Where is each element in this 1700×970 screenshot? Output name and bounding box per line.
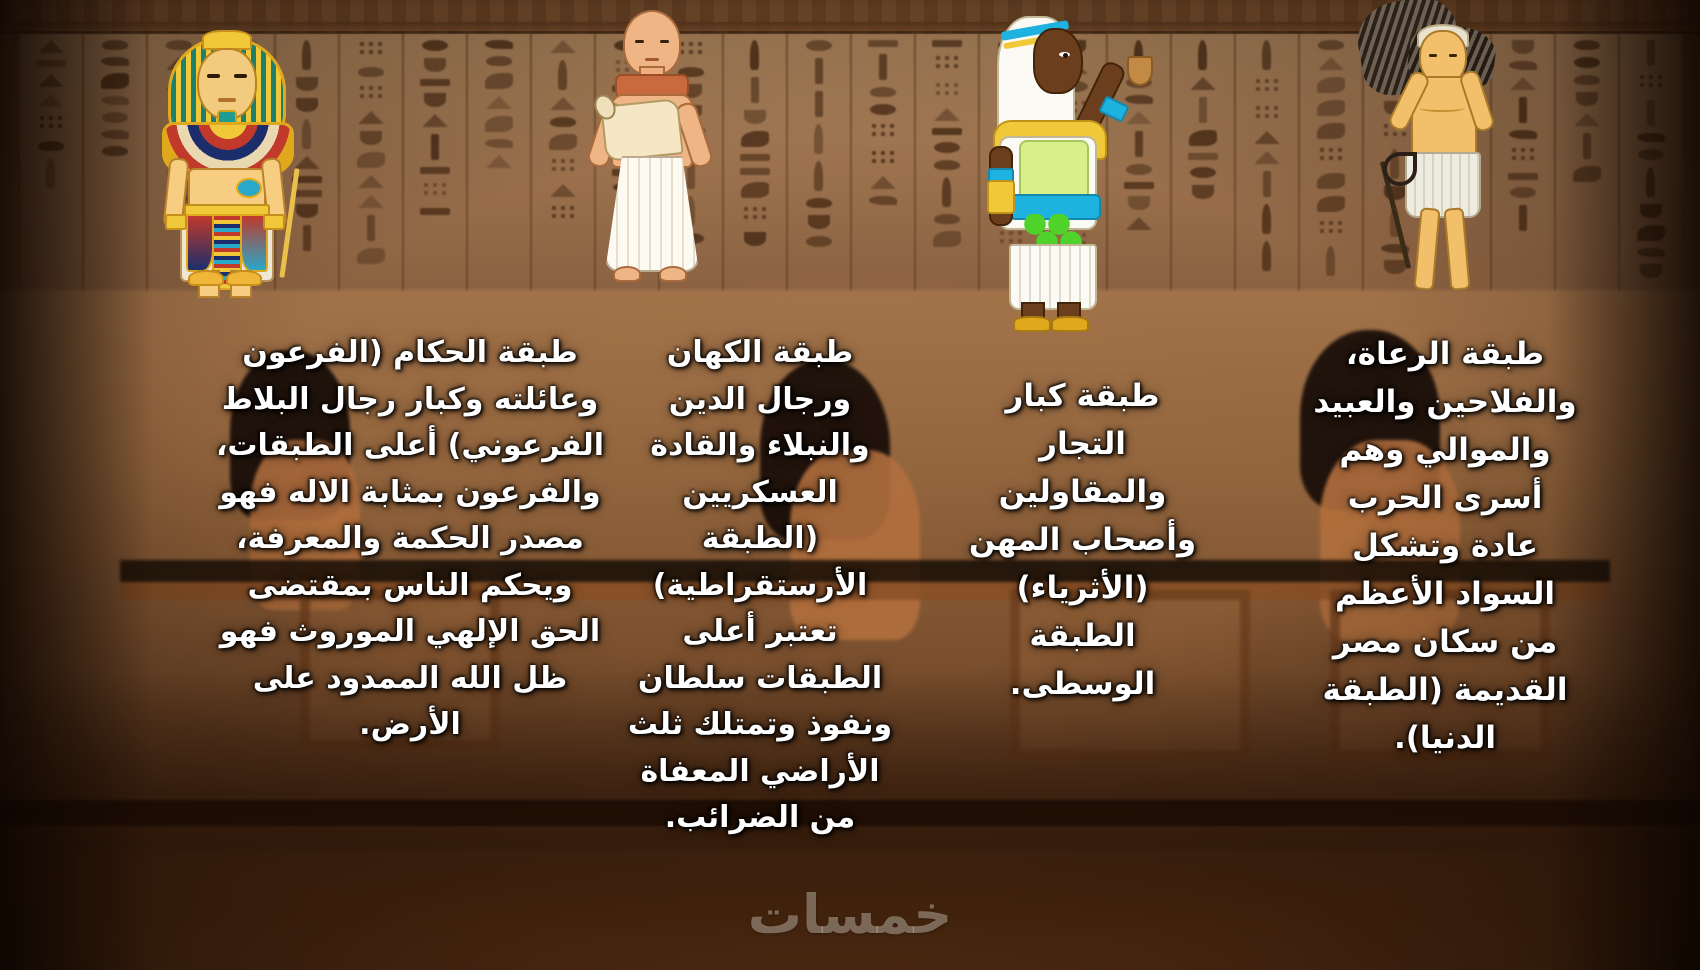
pharaoh-figure bbox=[140, 18, 310, 283]
merchant-sandal-left bbox=[1013, 316, 1051, 332]
pharaoh-crown-icon bbox=[202, 30, 252, 50]
pharaoh-eye-left bbox=[207, 74, 220, 78]
peasant-leg-right bbox=[1443, 207, 1470, 290]
peasant-eye-right bbox=[1449, 54, 1457, 57]
pharaoh-eye-right bbox=[234, 74, 247, 78]
priest-long-robe bbox=[605, 156, 699, 272]
pharaoh-wrist-cuff-left bbox=[165, 214, 187, 230]
peasant-laborer-figure bbox=[1355, 0, 1515, 292]
merchant-figure bbox=[975, 8, 1175, 328]
class-column-priests-nobles: طبقة الكهان ورجال الدين والنبلاء والقادة… bbox=[620, 330, 900, 842]
pharaoh-wrist-cuff-right bbox=[263, 214, 285, 230]
pharaoh-sandal-left bbox=[188, 270, 224, 286]
priest-foot-right bbox=[659, 266, 687, 282]
merchant-face bbox=[1033, 28, 1083, 94]
scarab-amulet-icon bbox=[236, 178, 262, 198]
priest-foot-left bbox=[613, 266, 641, 282]
class-column-peasants-slaves: طبقة الرعاة، والفلاحين والعبيد والموالي … bbox=[1310, 330, 1580, 762]
priest-eye-left bbox=[635, 40, 644, 43]
merchant-sandal-right bbox=[1051, 316, 1089, 332]
sickle-icon bbox=[1383, 152, 1417, 186]
merchant-pupil bbox=[1063, 53, 1068, 58]
priest-eye-right bbox=[660, 40, 669, 43]
merchant-skirt bbox=[1009, 244, 1097, 310]
held-vessel-icon bbox=[1127, 56, 1153, 86]
pharaoh-sash-left bbox=[186, 214, 214, 272]
priest-scribe-figure bbox=[575, 4, 725, 284]
infographic-canvas: طبقة الرعاة، والفلاحين والعبيد والموالي … bbox=[0, 0, 1700, 970]
peasant-chest-line bbox=[1419, 104, 1465, 112]
priest-mouth bbox=[645, 58, 659, 61]
peasant-eye-left bbox=[1429, 54, 1437, 57]
pharaoh-sandal-right bbox=[226, 270, 262, 286]
class-column-merchants-middle: طبقة كبار التجار والمقاولين وأصحاب المهن… bbox=[960, 372, 1205, 708]
peasant-leg-left bbox=[1413, 207, 1440, 290]
class-column-rulers: طبقة الحكام (الفرعون وعائلته وكبار رجال … bbox=[210, 330, 610, 749]
watermark-khamsat: خمسات bbox=[0, 883, 1700, 946]
pharaoh-mouth bbox=[218, 98, 236, 102]
merchant-gold-bracer bbox=[987, 180, 1015, 214]
